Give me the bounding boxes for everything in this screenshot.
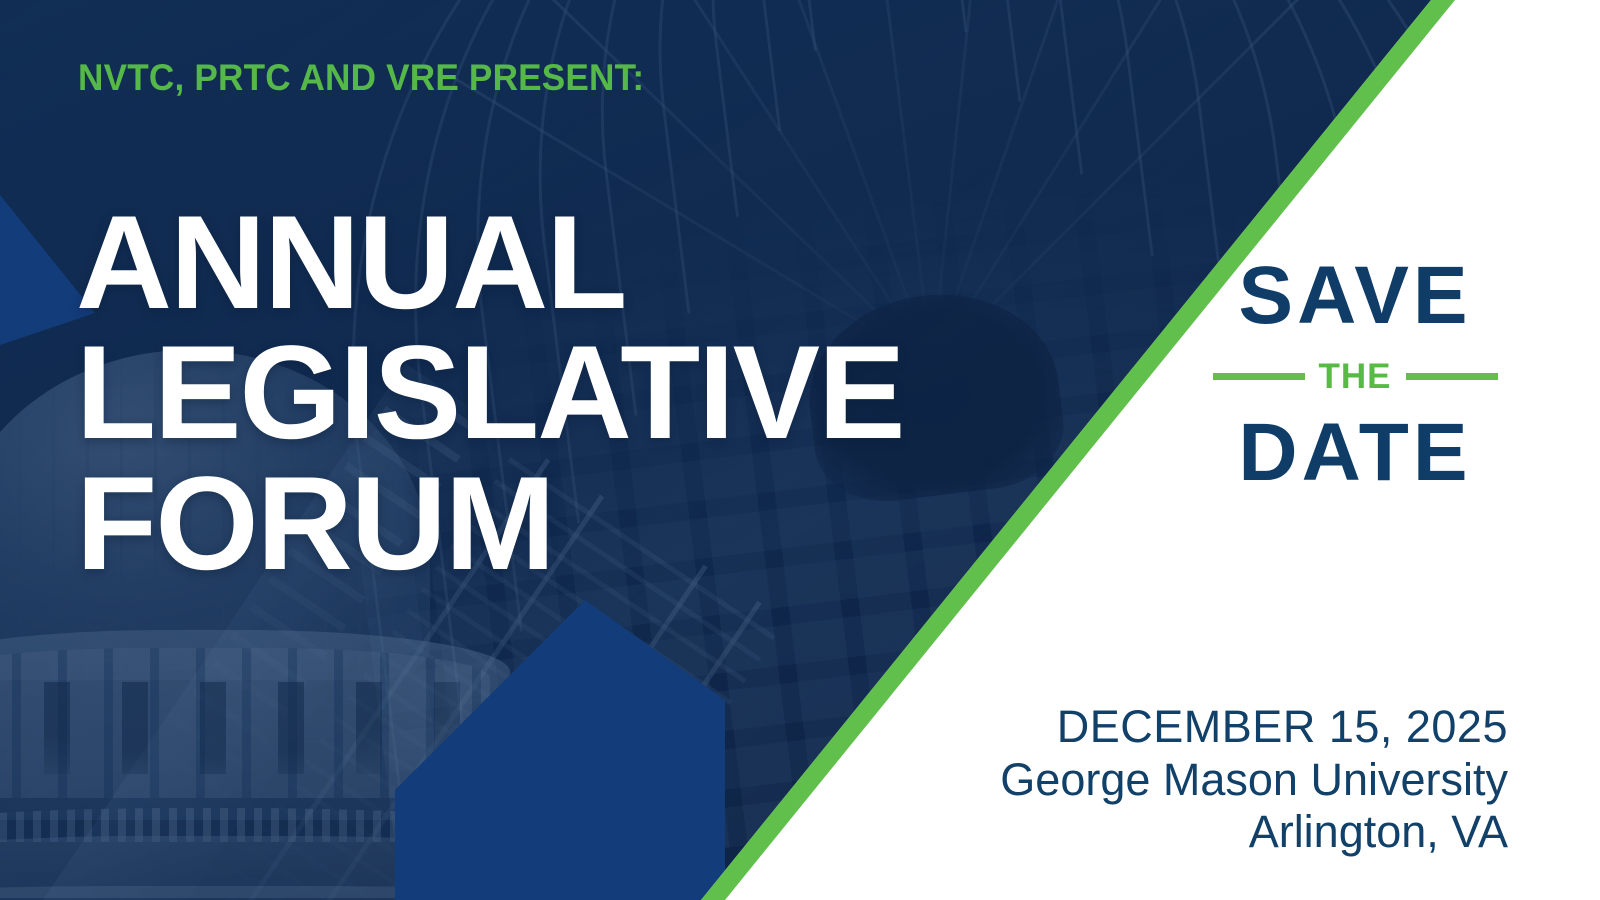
the-row: THE <box>1205 359 1505 394</box>
save-word: SAVE <box>1205 255 1505 337</box>
event-city: Arlington, VA <box>1000 806 1508 858</box>
page-title-line-1: ANNUAL <box>76 198 1036 328</box>
rule-right-decoration <box>1406 373 1498 380</box>
save-the-date-poster: NVTC, PRTC AND VRE PRESENT: ANNUAL LEGIS… <box>0 0 1600 900</box>
save-the-date-lockup: SAVE THE DATE <box>1205 255 1505 494</box>
event-details: DECEMBER 15, 2025 George Mason Universit… <box>1000 701 1508 858</box>
the-word: THE <box>1319 359 1392 394</box>
rule-left-decoration <box>1213 373 1305 380</box>
presenters-kicker: NVTC, PRTC AND VRE PRESENT: <box>78 57 644 99</box>
event-venue: George Mason University <box>1000 754 1508 806</box>
date-word: DATE <box>1205 412 1505 494</box>
page-title: ANNUAL LEGISLATIVE FORUM <box>76 198 1036 589</box>
page-title-line-3: FORUM <box>76 459 1036 589</box>
page-title-line-2: LEGISLATIVE <box>76 328 1022 458</box>
event-date: DECEMBER 15, 2025 <box>1000 701 1508 753</box>
